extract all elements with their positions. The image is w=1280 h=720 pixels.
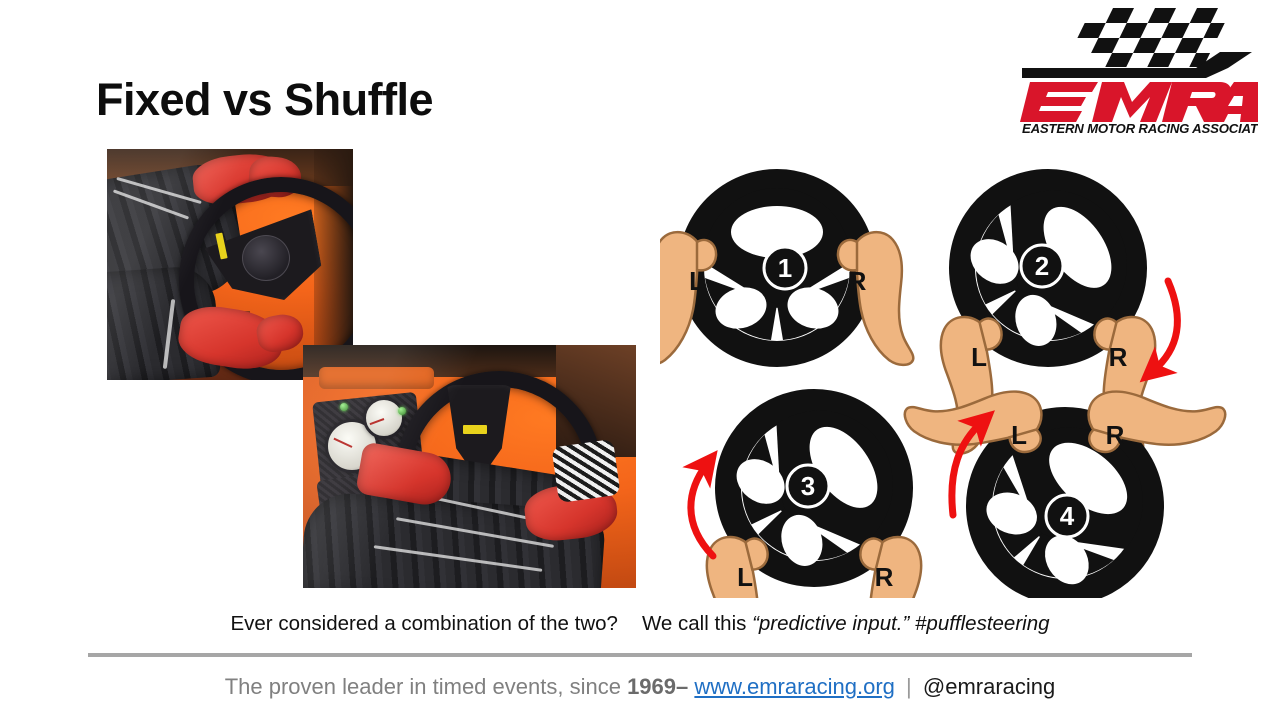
caption: Ever considered a combination of the two… bbox=[0, 612, 1280, 636]
footer-divider bbox=[88, 653, 1192, 657]
emra-wordmark bbox=[1020, 82, 1258, 122]
step-3-rotation-arrow bbox=[691, 464, 713, 556]
step-2-right-label: R bbox=[1109, 342, 1128, 372]
step-2-rotation-arrow bbox=[1153, 281, 1177, 371]
logo-subtitle: EASTERN MOTOR RACING ASSOCIATION bbox=[1022, 121, 1258, 134]
step-2-left-label: L bbox=[971, 342, 987, 372]
emra-logo: EASTERN MOTOR RACING ASSOCIATION bbox=[1020, 4, 1258, 134]
footer-website-link[interactable]: www.emraracing.org bbox=[694, 674, 895, 699]
page-title: Fixed vs Shuffle bbox=[96, 74, 433, 126]
footer-lead: The proven leader in timed events, since bbox=[225, 674, 621, 699]
footer: The proven leader in timed events, since… bbox=[0, 674, 1280, 700]
step-3-left-label: L bbox=[737, 562, 753, 592]
footer-social-handle: @emraracing bbox=[923, 674, 1055, 699]
step-4-number: 4 bbox=[1060, 501, 1075, 531]
step-1-number: 1 bbox=[778, 253, 792, 283]
step-1-right-label: R bbox=[848, 266, 867, 296]
step-4-right-label: R bbox=[1106, 420, 1125, 450]
checkered-flag-icon bbox=[1063, 8, 1232, 67]
step-2-number: 2 bbox=[1035, 251, 1049, 281]
step-3-right-label: R bbox=[875, 562, 894, 592]
step-1-wheel: L R 1 bbox=[660, 182, 913, 365]
footer-dash: – bbox=[676, 674, 688, 699]
shuffle-hands-photo bbox=[303, 345, 636, 588]
step-3-wheel: L R 3 bbox=[689, 368, 940, 598]
step-1-left-label: L bbox=[689, 266, 705, 296]
footer-year: 1969 bbox=[627, 674, 676, 699]
steering-sequence-diagram: L R 1 L R 2 bbox=[660, 168, 1250, 598]
slide-canvas: Fixed vs Shuffle bbox=[0, 0, 1280, 720]
footer-separator: | bbox=[901, 674, 917, 699]
step-3-number: 3 bbox=[801, 471, 815, 501]
caption-hashtag: #pufflesteering bbox=[915, 612, 1049, 635]
caption-part2: We call this bbox=[642, 612, 746, 635]
caption-quote: “predictive input.” bbox=[752, 612, 909, 635]
step-4-left-label: L bbox=[1011, 420, 1027, 450]
caption-part1: Ever considered a combination of the two… bbox=[230, 612, 617, 635]
